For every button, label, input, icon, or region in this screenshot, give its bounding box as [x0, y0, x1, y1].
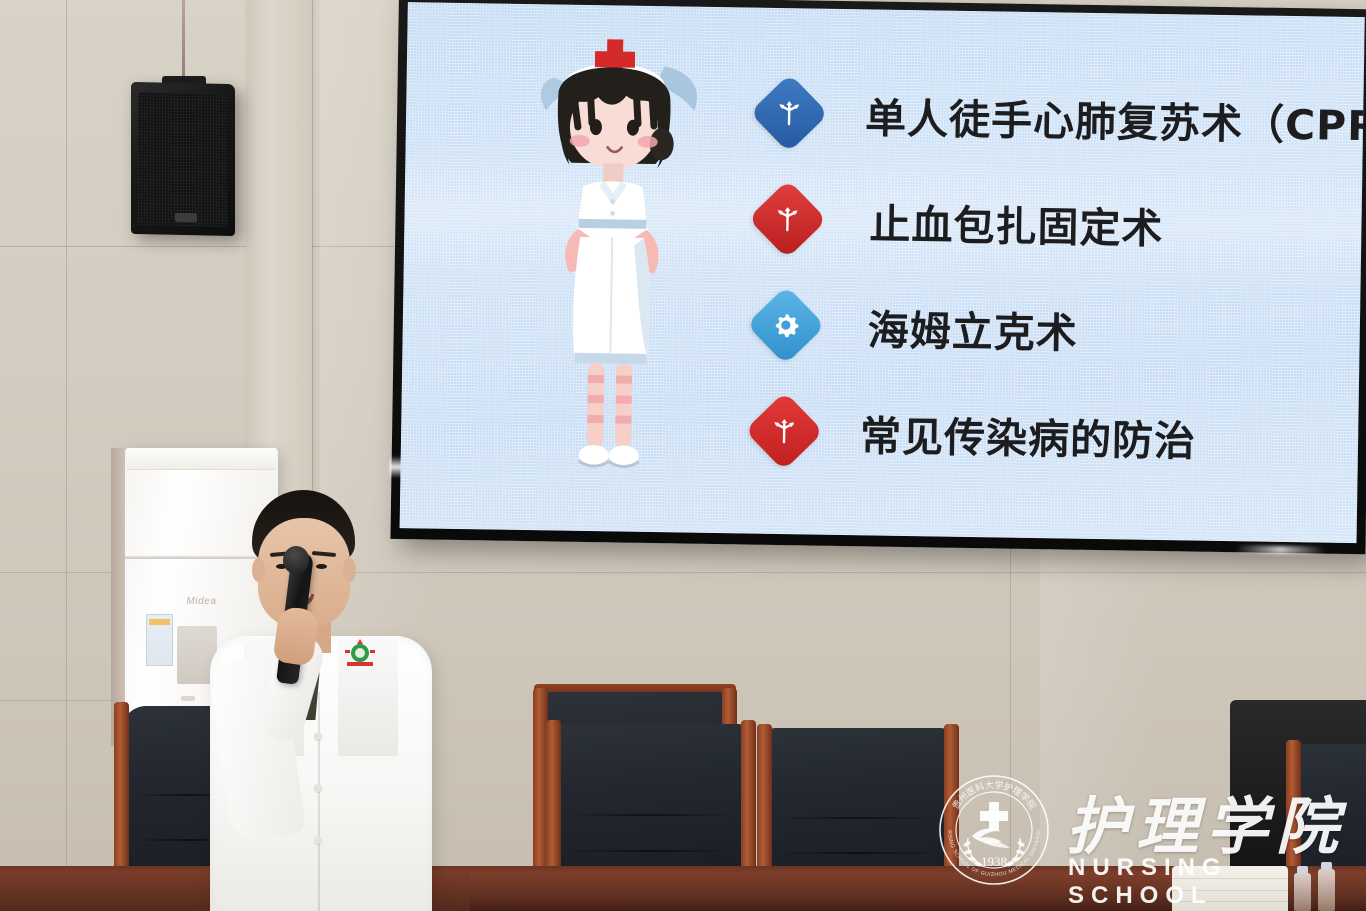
slide-bullet-item: 常见传染病的防治 [755, 378, 1357, 493]
air-conditioner-button[interactable] [181, 696, 195, 701]
chest-badge [341, 638, 379, 672]
slide-bullet-item: 海姆立克术 [757, 272, 1359, 387]
slide-bullet-list: 单人徒手心肺复苏术（CPR） 止血包扎固定术 [755, 60, 1362, 493]
speaker-grille [138, 92, 228, 227]
presenter [196, 490, 441, 911]
branch-arrow-icon [745, 392, 824, 471]
bezel-glint [1235, 545, 1325, 554]
cartoon-nurse-illustration [508, 22, 715, 490]
branch-arrow-icon [748, 180, 827, 259]
speaker-badge [175, 213, 197, 222]
slide-bullet-item: 止血包扎固定术 [759, 166, 1361, 281]
watermark-chinese-text: 护理学院 [1066, 776, 1346, 866]
wall-seam [66, 0, 67, 880]
watermark-english-text: NURSING SCHOOL [1068, 854, 1358, 910]
presentation-slide: 单人徒手心肺复苏术（CPR） 止血包扎固定术 [400, 2, 1365, 543]
gear-icon [746, 286, 825, 365]
university-seal: 1938 贵州医科大学护理学院 NURSING SCHOOL OF GUIZHO… [938, 774, 1050, 886]
slide-bullet-text: 单人徒手心肺复苏术（CPR） [865, 84, 1365, 153]
conference-chair [554, 724, 748, 874]
wall-notice [146, 614, 173, 666]
eye [316, 564, 327, 569]
seal-year: 1938 [981, 854, 1007, 869]
slide-bullet-text: 海姆立克术 [867, 296, 1078, 359]
ear [252, 558, 265, 582]
wall-speaker [131, 82, 235, 236]
air-conditioner-top-vent [127, 448, 276, 470]
slide-bullet-text: 止血包扎固定术 [869, 190, 1164, 255]
branch-arrow-icon [750, 74, 829, 153]
conference-chair [765, 728, 951, 876]
watermark: 1938 贵州医科大学护理学院 NURSING SCHOOL OF GUIZHO… [938, 772, 1358, 896]
slide-bullet-text: 常见传染病的防治 [860, 402, 1197, 467]
ear [343, 558, 356, 582]
presentation-photo-scene: Midea [0, 0, 1366, 911]
led-display: 单人徒手心肺复苏术（CPR） 止血包扎固定术 [390, 0, 1366, 554]
slide-bullet-item: 单人徒手心肺复苏术（CPR） [760, 60, 1362, 175]
